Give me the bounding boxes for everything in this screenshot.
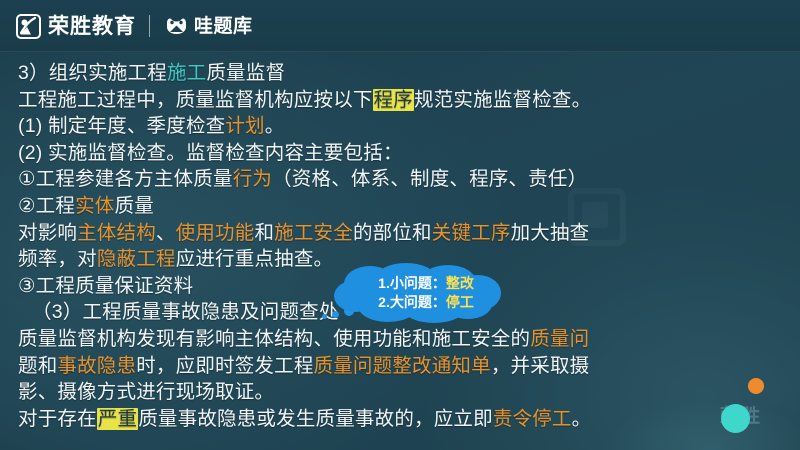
line14-part-c: 质量事故隐患或发生质量事故的，应立即 <box>138 408 493 430</box>
line12-highlight-2: 质量问题整改通知单 <box>314 355 491 377</box>
line5-part-c: （资格、体系、制度、程序、责任） <box>272 168 587 190</box>
line5-part-a: ①工程参建各方主体质量 <box>18 168 233 190</box>
line12-highlight-1: 事故隐患 <box>57 355 136 377</box>
callout-line-2: 2.大问题：停工 <box>356 293 496 312</box>
text-line-6: ②工程实体质量 <box>18 193 782 220</box>
line6-part-c: 质量 <box>115 195 154 217</box>
line11-part-a: 质量监督机构发现有影响主体结构、使用功能和施工安全的 <box>18 328 530 350</box>
cloud-callout: 1.小问题：整改 2.大问题：停工 <box>330 262 506 324</box>
line7-part-c: 、 <box>156 222 176 244</box>
line8-highlight-orange: 隐蔽工程 <box>97 248 176 270</box>
line3-highlight-orange: 计划 <box>225 115 264 137</box>
header-divider <box>149 15 150 37</box>
text-line-4: (2) 实施监督检查。监督检查内容主要包括： <box>18 140 782 167</box>
line12-part-c: 时，应即时签发工程 <box>136 355 313 377</box>
brand-name: 荣胜教育 <box>48 16 136 37</box>
callout-line-1: 1.小问题：整改 <box>356 274 496 293</box>
text-line-3: (1) 制定年度、季度检查计划。 <box>18 113 782 140</box>
line12-part-a: 题和 <box>18 355 57 377</box>
text-line-5: ①工程参建各方主体质量行为（资格、体系、制度、程序、责任） <box>18 166 782 193</box>
line8-part-a: 频率，对 <box>18 248 97 270</box>
line7-highlight-1: 主体结构 <box>77 222 156 244</box>
line14-part-e: 。 <box>572 408 592 430</box>
line14-highlight-yellow: 严重 <box>97 408 138 430</box>
text-line-13: 影、摄像方式进行现场取证。 <box>18 379 782 406</box>
line7-highlight-4: 关键工序 <box>432 222 511 244</box>
cloud-callout-text: 1.小问题：整改 2.大问题：停工 <box>356 274 496 312</box>
callout-bubble-small-1 <box>322 314 327 319</box>
line1-highlight-cyan: 施工 <box>167 62 206 84</box>
callout-line1-prefix: 1.小问题： <box>378 275 446 291</box>
text-line-12: 题和事故隐患时，应即时签发工程质量问题整改通知单，并采取摄 <box>18 353 782 380</box>
line2-part-c: 规范实施监督检查。 <box>414 89 591 111</box>
line1-part-a: 3）组织实施工程 <box>18 62 167 84</box>
line2-part-a: 工程施工过程中，质量监督机构应按以下 <box>18 89 373 111</box>
line8-part-c: 应进行重点抽查。 <box>176 248 334 270</box>
text-line-7: 对影响主体结构、使用功能和施工安全的部位和关键工序加大抽查 <box>18 220 782 247</box>
line14-part-a: 对于存在 <box>18 408 97 430</box>
header-bar: 荣胜教育 哇题库 <box>0 0 800 52</box>
slide-content: 3）组织实施工程施工质量监督 工程施工过程中，质量监督机构应按以下程序规范实施监… <box>0 52 800 450</box>
line14-highlight-orange: 责令停工 <box>493 408 572 430</box>
line12-part-e: ，并采取摄 <box>491 355 590 377</box>
line5-highlight-orange: 行为 <box>233 168 272 190</box>
line7-part-i: 加大抽查 <box>511 222 590 244</box>
line7-highlight-3: 施工安全 <box>274 222 353 244</box>
line7-highlight-2: 使用功能 <box>176 222 255 244</box>
callout-line2-prefix: 2.大问题： <box>378 294 446 310</box>
brand-logo: 荣胜教育 哇题库 <box>16 14 253 39</box>
text-line-11: 质量监督机构发现有影响主体结构、使用功能和施工安全的质量问 <box>18 326 782 353</box>
frog-mascot-icon <box>163 16 190 36</box>
line11-highlight-orange: 质量问 <box>530 328 589 350</box>
line2-highlight-yellow: 程序 <box>373 89 414 111</box>
callout-line1-emphasis: 整改 <box>446 275 474 291</box>
text-line-2: 工程施工过程中，质量监督机构应按以下程序规范实施监督检查。 <box>18 87 782 114</box>
square-logo-icon <box>16 14 41 39</box>
line7-part-a: 对影响 <box>18 222 77 244</box>
sub-brand-name: 哇题库 <box>194 17 253 36</box>
callout-line2-emphasis: 停工 <box>446 294 474 310</box>
line7-part-g: 的部位和 <box>353 222 432 244</box>
line1-part-c: 质量监督 <box>206 62 285 84</box>
line3-part-a: (1) 制定年度、季度检查 <box>18 115 225 137</box>
text-line-1: 3）组织实施工程施工质量监督 <box>18 60 782 87</box>
slide-canvas: 荣胜教育 哇题库 3）组织实施工程施工质量监督 工程施工过程中，质量监督机构应按… <box>0 0 800 450</box>
line7-part-e: 和 <box>254 222 274 244</box>
line6-highlight-orange: 实体 <box>75 195 114 217</box>
line3-part-c: 。 <box>265 115 285 137</box>
line6-part-a: ②工程 <box>18 195 75 217</box>
text-line-14: 对于存在严重质量事故隐患或发生质量事故的，应立即责令停工。 <box>18 406 782 433</box>
